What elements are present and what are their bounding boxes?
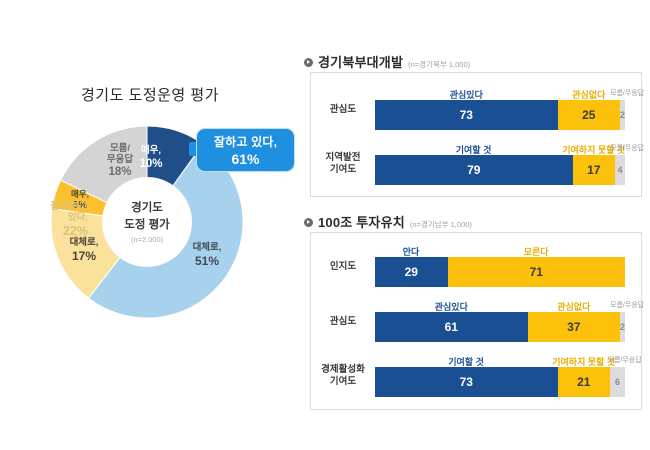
- bar-segment-noanswer-north-1: 4: [615, 155, 625, 185]
- donut-callout-positive-percent: 61%: [231, 151, 259, 167]
- bar-row-label-invest-0: 인지도: [312, 261, 374, 273]
- section-header-invest: 100조 투자유치 (n=경기남부 1,000): [304, 212, 472, 231]
- section-subtitle-invest: (n=경기남부 1,000): [410, 219, 472, 230]
- donut-callout-negative-percent: 22%: [10, 224, 88, 238]
- bar-caption-noanswer-invest-2: 모름/무응답: [608, 355, 642, 365]
- section-title-invest: 100조 투자유치: [318, 212, 405, 231]
- stacked-bar-invest-0: 2971: [375, 257, 625, 287]
- bar-row-label-north-0: 관심도: [312, 104, 374, 116]
- donut-callout-positive: 잘하고 있다, 61%: [196, 128, 295, 172]
- section-header-north: 경기북부대개발 (n=경기북부 1,000): [304, 52, 470, 71]
- play-bullet-icon: [304, 218, 313, 227]
- bar-row-label-line1: 경제활성화: [321, 364, 365, 375]
- donut-label-no-answer-line2: 무응답: [96, 155, 144, 166]
- bar-row-label-line2: 기여도: [330, 164, 356, 175]
- donut-label-daeche-positive: 대체로, 51%: [181, 243, 233, 268]
- bar-segment-negative-invest-2: 21: [558, 367, 611, 397]
- donut-label-daeche-negative-text: 대체로,: [59, 238, 109, 249]
- donut-label-no-answer-percent: 18%: [96, 166, 144, 179]
- bar-caption-noanswer-north-1: 모름/무응답: [610, 143, 644, 153]
- bar-segment-positive-invest-0: 29: [375, 257, 448, 287]
- donut-label-daeche-positive-text: 대체로,: [181, 243, 233, 254]
- bar-row-label-line1: 관심도: [330, 316, 356, 327]
- bar-segment-negative-invest-1: 37: [528, 312, 621, 342]
- bar-segment-noanswer-invest-1: 2: [620, 312, 625, 342]
- donut-hole: [103, 178, 192, 267]
- bar-row-label-line1: 지역발전: [326, 152, 361, 163]
- bar-row-label-invest-2: 경제활성화기여도: [312, 364, 374, 389]
- bar-segment-noanswer-invest-2: 6: [610, 367, 625, 397]
- bar-row-label-line1: 관심도: [330, 104, 356, 115]
- stacked-bar-invest-1: 61372: [375, 312, 625, 342]
- bar-segment-negative-invest-0: 71: [448, 257, 626, 287]
- bar-segment-positive-north-1: 79: [375, 155, 573, 185]
- donut-label-daeche-negative: 대체로, 17%: [59, 238, 109, 263]
- bar-segment-negative-north-0: 25: [558, 100, 621, 130]
- stacked-bar-north-1: 79174: [375, 155, 625, 185]
- bar-segment-negative-north-1: 17: [573, 155, 616, 185]
- donut-label-no-answer: 모름/ 무응답 18%: [96, 144, 144, 179]
- bar-row-label-invest-1: 관심도: [312, 316, 374, 328]
- section-subtitle-north: (n=경기북부 1,000): [408, 59, 470, 70]
- donut-callout-positive-line1: 잘하고 있다,: [214, 133, 277, 150]
- infographic-root: 경기도 도정운영 평가 경기도 도정 평가 (n=2,000) 매우, 10% …: [0, 0, 650, 450]
- bar-caption-noanswer-invest-1: 모름/무응답: [610, 300, 644, 310]
- donut-callout-negative-line2: 있다,: [10, 213, 88, 224]
- stacked-bar-invest-2: 73216: [375, 367, 625, 397]
- donut-callout-negative: 잘 못하고 있다, 22%: [10, 202, 88, 238]
- stacked-bar-north-0: 73252: [375, 100, 625, 130]
- bar-segment-positive-north-0: 73: [375, 100, 558, 130]
- bar-row-label-line2: 기여도: [330, 376, 356, 387]
- bar-row-label-north-1: 지역발전기여도: [312, 152, 374, 177]
- bar-segment-positive-invest-1: 61: [375, 312, 528, 342]
- donut-label-daeche-positive-percent: 51%: [181, 255, 233, 268]
- donut-chart-title: 경기도 도정운영 평가: [0, 84, 300, 105]
- bar-segment-noanswer-north-0: 2: [620, 100, 625, 130]
- bar-caption-noanswer-north-0: 모름/무응답: [610, 88, 644, 98]
- bar-segment-positive-invest-2: 73: [375, 367, 558, 397]
- donut-chart-panel: 경기도 도정운영 평가 경기도 도정 평가 (n=2,000) 매우, 10% …: [0, 0, 300, 450]
- donut-label-maeu-negative-text: 매우,: [62, 190, 98, 200]
- play-bullet-icon: [304, 58, 313, 67]
- donut-label-daeche-negative-percent: 17%: [59, 250, 109, 263]
- bar-row-label-line1: 인지도: [330, 261, 356, 272]
- section-title-north: 경기북부대개발: [318, 52, 403, 71]
